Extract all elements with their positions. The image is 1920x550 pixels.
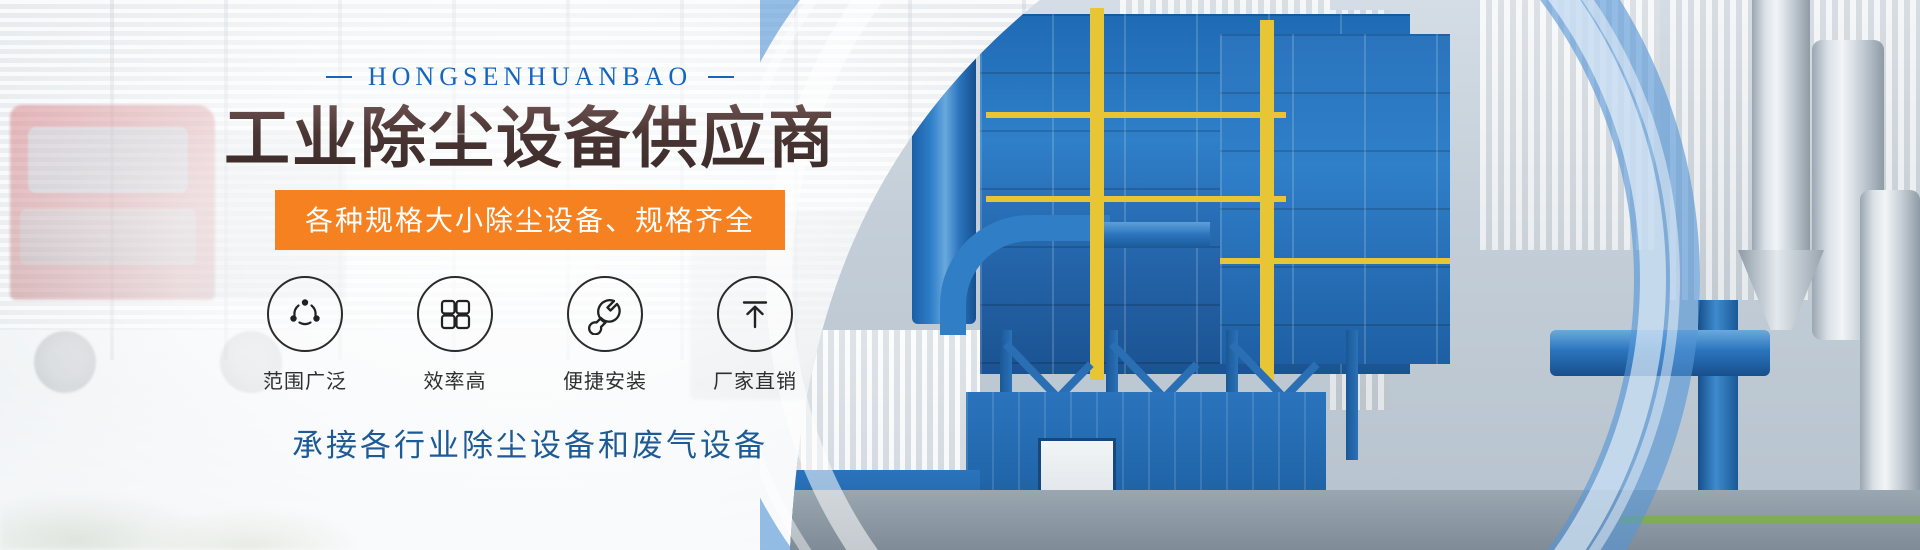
factory-building xyxy=(1480,0,1660,250)
arrow-up-bar-icon xyxy=(735,294,775,334)
feature-label: 效率高 xyxy=(424,365,487,394)
feature-icon-circle xyxy=(267,276,343,352)
feature-label: 便捷安装 xyxy=(563,365,647,394)
feature-label: 厂家直销 xyxy=(713,365,797,394)
feature-icon-circle xyxy=(717,276,793,352)
grid-squares-icon xyxy=(435,294,475,334)
hero-banner: HONGSENHUANBAO 工业除尘设备供应商 各种规格大小除尘设备、规格齐全 xyxy=(0,0,1920,550)
eyebrow-text: HONGSENHUANBAO xyxy=(368,62,692,92)
banner-content: HONGSENHUANBAO 工业除尘设备供应商 各种规格大小除尘设备、规格齐全 xyxy=(0,0,1060,550)
dash-left-icon xyxy=(326,76,352,78)
silver-silo xyxy=(1752,0,1810,290)
blue-pipe-run xyxy=(1550,330,1770,376)
feature-label: 范围广泛 xyxy=(263,365,347,394)
feature-item-xiaolvgao[interactable]: 效率高 xyxy=(409,276,501,394)
yellow-ladder xyxy=(1090,8,1104,380)
yellow-handrail xyxy=(1220,258,1450,264)
feature-item-changjiazhixiao[interactable]: 厂家直销 xyxy=(709,276,801,394)
subtitle-bar: 各种规格大小除尘设备、规格齐全 xyxy=(275,190,785,250)
feature-icon-circle xyxy=(417,276,493,352)
blue-horizontal-duct xyxy=(1090,222,1210,248)
dash-right-icon xyxy=(708,76,734,78)
feature-item-fanweiguangfan[interactable]: 范围广泛 xyxy=(259,276,351,394)
feature-item-bianjieanzhuang[interactable]: 便捷安装 xyxy=(559,276,651,394)
wrench-icon xyxy=(584,293,626,335)
banner-tagline: 承接各行业除尘设备和废气设备 xyxy=(292,420,768,465)
feature-list: 范围广泛 效率高 xyxy=(259,276,801,394)
share-network-icon xyxy=(285,294,325,334)
feature-icon-circle xyxy=(567,276,643,352)
green-fence-rail xyxy=(1620,516,1920,524)
page-title: 工业除尘设备供应商 xyxy=(224,102,836,176)
eyebrow-line: HONGSENHUANBAO xyxy=(326,62,734,92)
